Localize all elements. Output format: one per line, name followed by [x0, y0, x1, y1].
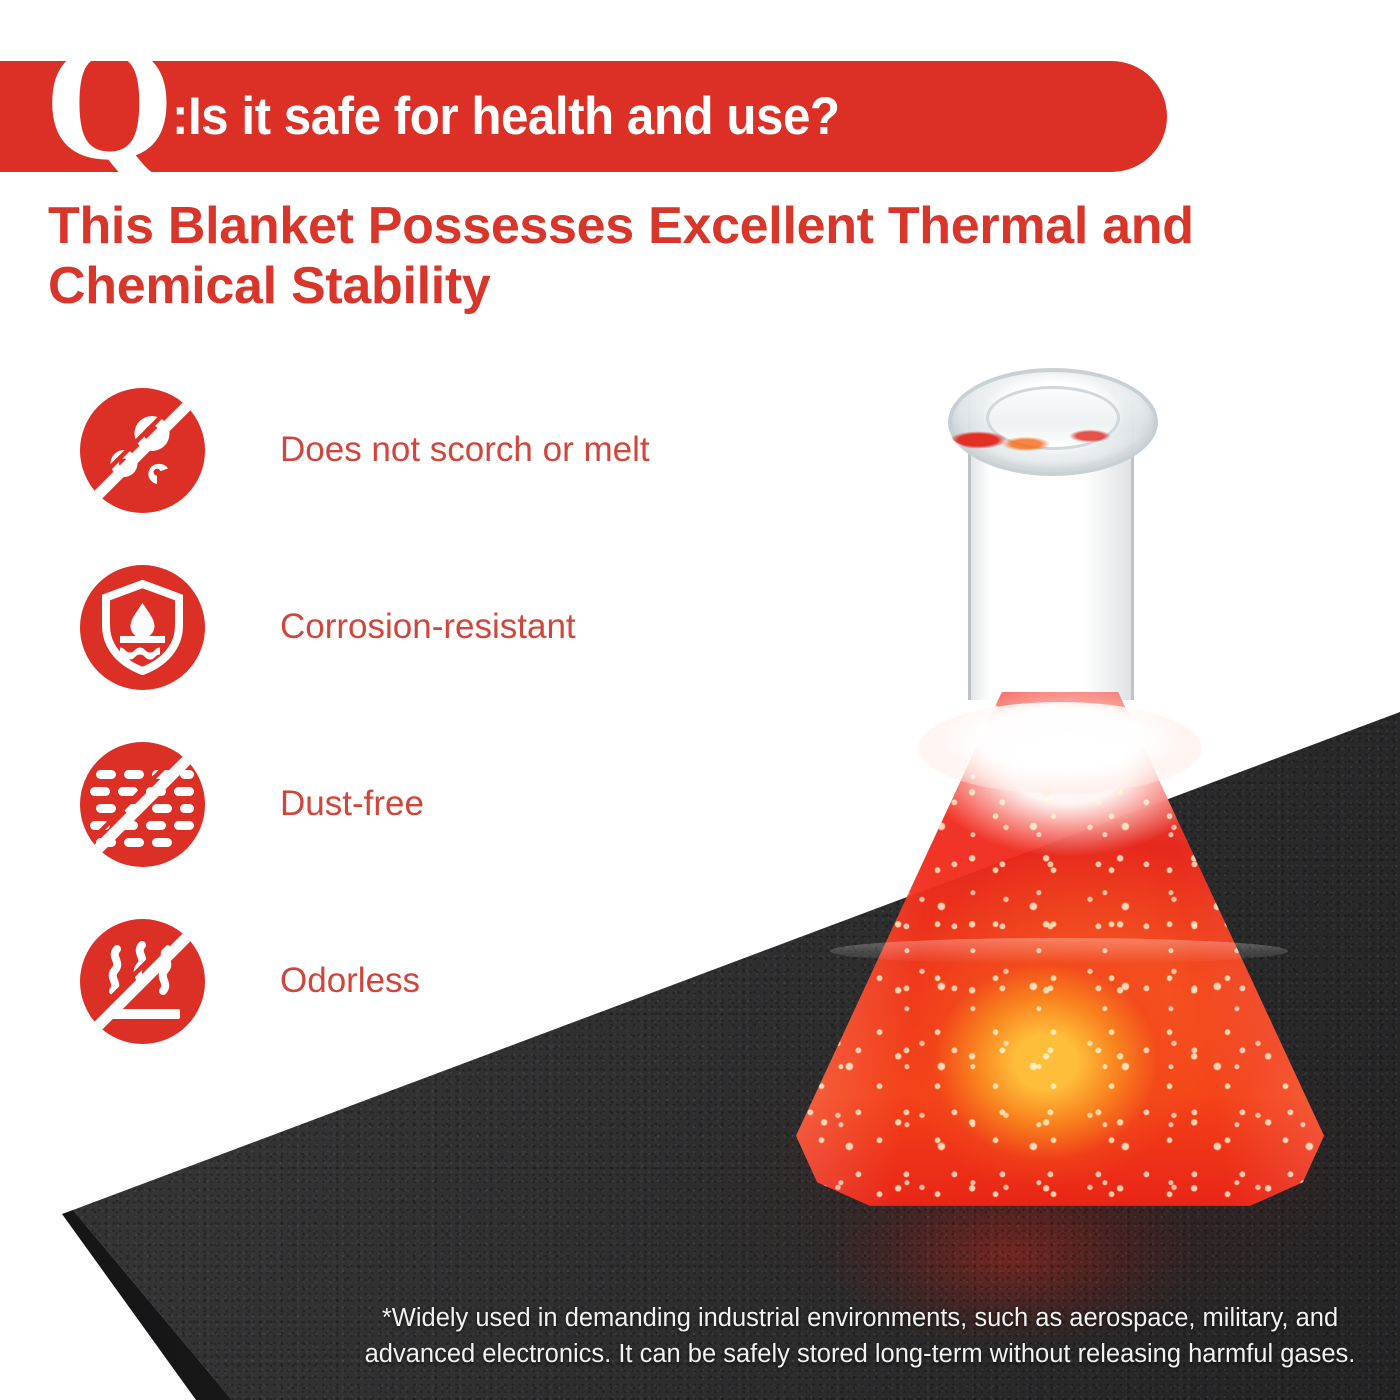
question-text: :Is it safe for health and use? [172, 61, 840, 172]
feature-item-dust-free: Dust-free [80, 742, 780, 919]
feature-list: Does not scorch or melt Corrosion-resist… [80, 388, 780, 1096]
no-melt-icon [80, 388, 205, 513]
infographic-page: :Is it safe for health and use? Q This B… [0, 0, 1400, 1400]
page-title: This Blanket Possesses Excellent Thermal… [48, 196, 1338, 317]
feature-label: Odorless [280, 957, 420, 1005]
question-q-letter: Q [44, 18, 175, 186]
feature-label: Corrosion-resistant [280, 603, 576, 651]
feature-item-odorless: Odorless [80, 919, 780, 1096]
erlenmeyer-flask [790, 352, 1330, 1217]
feature-label: Does not scorch or melt [280, 426, 650, 474]
no-odor-icon [80, 919, 205, 1044]
shield-droplet-icon [80, 565, 205, 690]
footnote-text: *Widely used in demanding industrial env… [330, 1300, 1390, 1372]
feature-item-corrosion-resistant: Corrosion-resistant [80, 565, 780, 742]
flask-rim-liquid-stain [950, 410, 1146, 458]
feature-item-no-melt: Does not scorch or melt [80, 388, 780, 565]
no-dust-icon [80, 742, 205, 867]
feature-label: Dust-free [280, 780, 424, 828]
